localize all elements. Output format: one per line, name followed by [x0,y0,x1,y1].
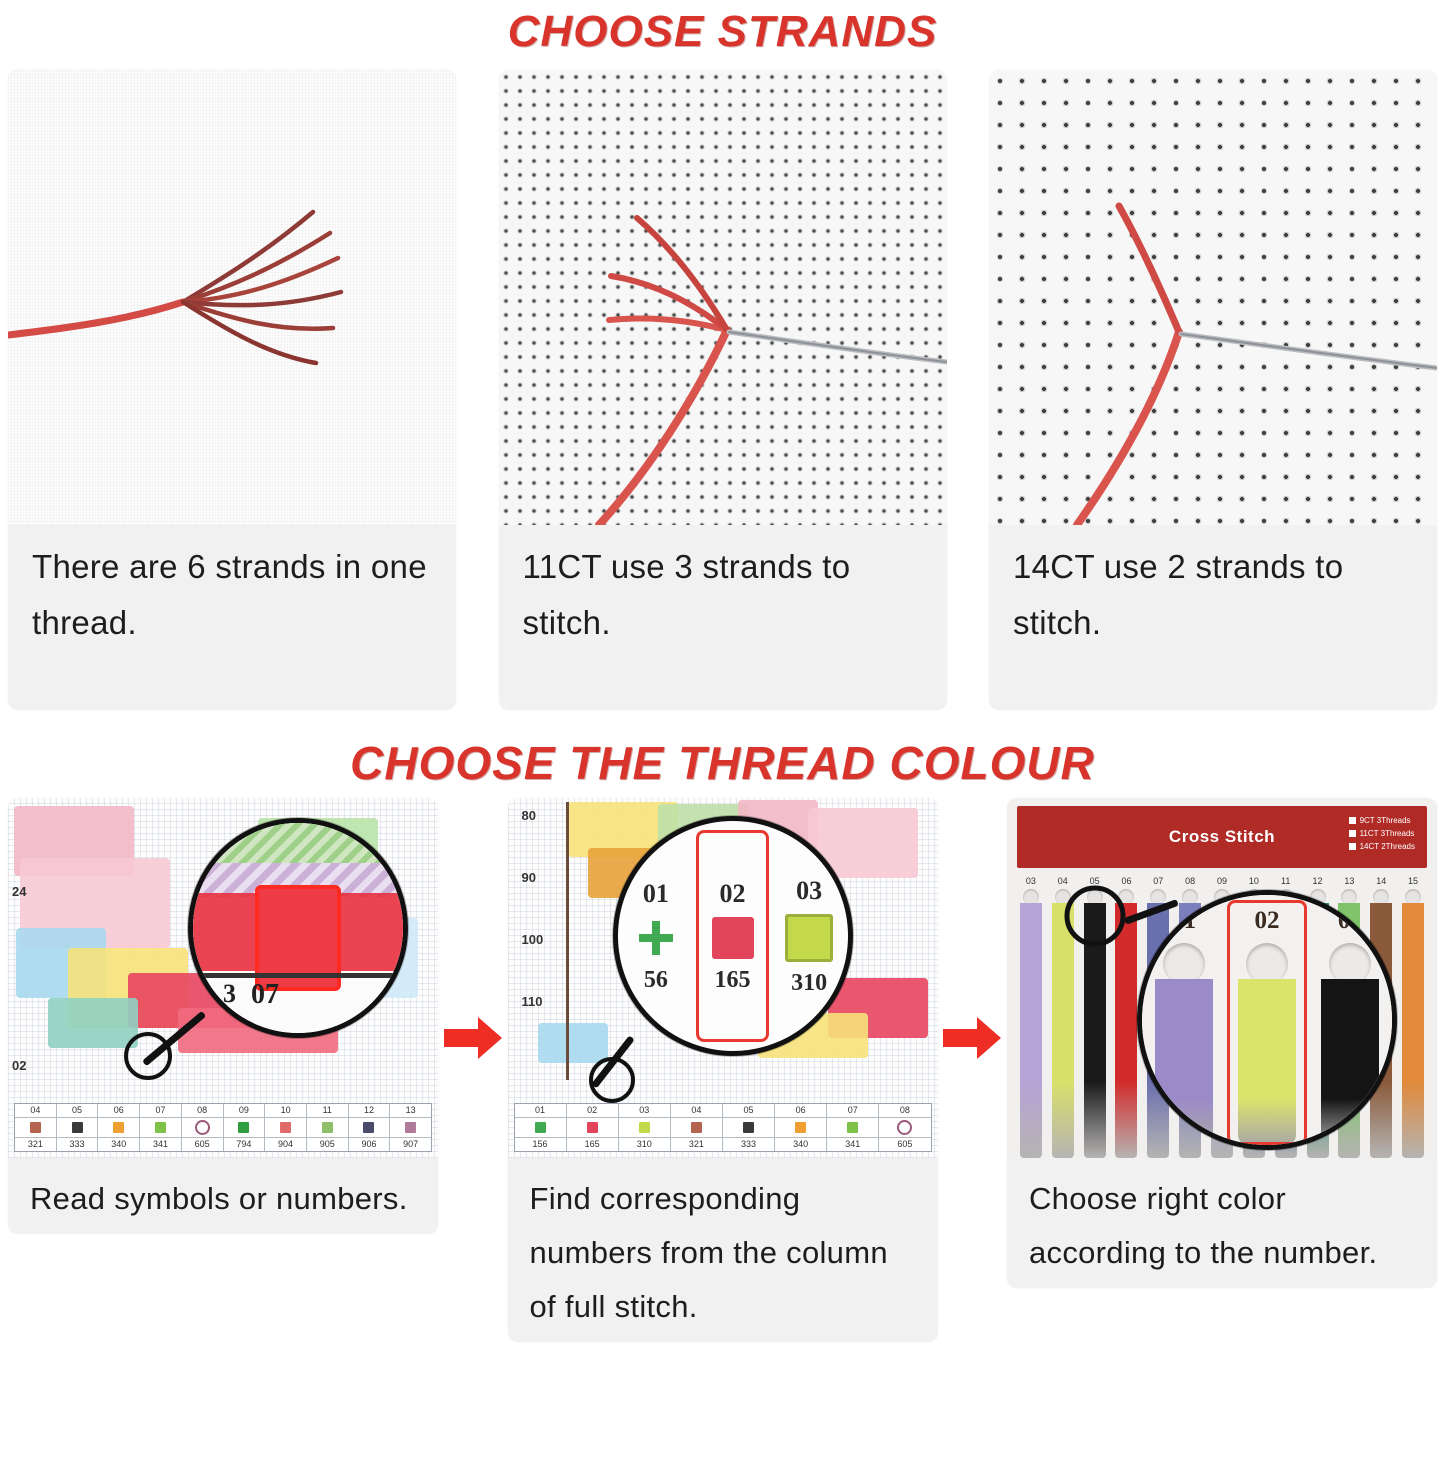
row-label: 110 [522,994,543,1009]
skein-number: 14 [1376,876,1386,886]
card-11ct: 11CT use 3 strands to stitch. [499,70,947,710]
needle-with-three-strands-icon [499,70,947,525]
legend-symbol-icon [363,1122,374,1133]
key-column-code: 56 [644,967,668,994]
photo-11ct-aida [499,70,947,525]
printed-pattern-chart: 24 02 07 3 [8,798,438,1158]
checkbox-icon[interactable] [1349,830,1356,837]
photo-printed-pattern: 24 02 07 3 [8,798,438,1158]
needle-with-two-strands-icon [989,70,1437,525]
legend-symbol-cell [265,1118,307,1138]
legend-number-cell: 07 [827,1104,879,1118]
legend-number-cell: 08 [182,1104,224,1118]
magnifier-target-circle [1055,880,1145,950]
legend-code-cell: 605 [879,1138,930,1151]
thread-pack: Cross Stitch 9CT 3Threads11CT 3Threads14… [1007,798,1437,1158]
legend-number-cell: 05 [57,1104,99,1118]
legend-code-cell: 907 [390,1138,431,1151]
magnifier-target-circle [118,1020,208,1080]
legend-symbol-cell [619,1118,671,1138]
skein-floss [1321,979,1379,1145]
legend-number-cell: 01 [515,1104,567,1118]
legend-header-row: 0102030405060708 [515,1104,931,1118]
colour-card-row: 24 02 07 3 [0,798,1445,1398]
skein-number: 11 [1281,876,1290,886]
magnifier-lens: 01560216503310 [613,816,853,1056]
pack-options: 9CT 3Threads11CT 3Threads14CT 2Threads [1349,816,1415,855]
legend-code-cell: 321 [671,1138,723,1151]
legend-symbol-cell [307,1118,349,1138]
row-label: 24 [12,884,26,899]
magnified-skein-column: 02 [1225,895,1308,1145]
pattern-chart: 8090100110 01560216503310 01020304050607… [508,798,938,1158]
legend-symbol-cell [140,1118,182,1138]
legend-symbol-cell [15,1118,57,1138]
legend-symbol-icon [587,1122,598,1133]
legend-number-cell: 08 [879,1104,930,1118]
magnified-key-columns: 01560216503310 [618,821,848,1051]
skein-column-number: 03 [1338,907,1363,935]
legend-header-row: 04050607080910111213 [15,1104,431,1118]
legend-code-cell: 906 [349,1138,391,1151]
skein-floss [1238,979,1296,1145]
legend-number-cell: 11 [307,1104,349,1118]
magnified-number: 07 [251,979,279,1011]
skein-number: 03 [1026,876,1036,886]
legend-number-cell: 13 [390,1104,431,1118]
legend-symbol-icon [535,1122,546,1133]
chart-axis-line [566,802,569,1080]
key-column-code: 310 [791,970,827,997]
skein-number: 10 [1249,876,1259,886]
skein-column-number: 01 [1171,907,1196,935]
legend-code-cell: 341 [827,1138,879,1151]
legend-code-row: 156165310321333340341605 [515,1138,931,1151]
legend-symbol-icon [113,1122,124,1133]
magnified-skein-columns: 010203 [1142,895,1392,1145]
legend-symbol-row [15,1118,431,1138]
pack-option: 14CT 2Threads [1349,842,1415,851]
caption-six-strands: There are 6 strands in one thread. [8,525,456,661]
legend-symbol-icon [639,1122,650,1133]
magnified-skein-column: 03 [1309,895,1392,1145]
row-label: 100 [522,932,544,947]
skein: 03 [1015,874,1047,1158]
key-column-symbol [635,917,677,959]
legend-symbol-icon [322,1122,333,1133]
skein: 15 [1397,874,1429,1158]
legend-symbol-cell [98,1118,140,1138]
magnifier-target-circle [578,1050,668,1110]
row-label: 80 [522,808,536,823]
legend-symbol-icon [405,1122,416,1133]
legend-code-cell: 156 [515,1138,567,1151]
legend-symbol-icon [30,1122,41,1133]
magnifier-lens: 07 3 [188,818,408,1038]
checkbox-icon[interactable] [1349,817,1356,824]
skein-number: 08 [1185,876,1195,886]
legend-symbol-icon [155,1122,166,1133]
legend-symbol-cell [775,1118,827,1138]
legend-symbol-cell [182,1118,224,1138]
legend-symbol-cell [723,1118,775,1138]
legend-code-cell: 333 [57,1138,99,1151]
section-title-choose-thread-colour: CHOOSE THE THREAD COLOUR [0,730,1445,792]
key-column-number: 01 [643,879,669,909]
skein-floss [1020,903,1042,1158]
key-column-code: 165 [715,967,751,994]
magnified-skein-column: 01 [1142,895,1225,1145]
pack-option-label: 9CT 3Threads [1360,816,1411,825]
legend-symbol-icon [195,1120,210,1135]
photo-six-strands [8,70,456,525]
key-column-symbol [712,917,754,959]
photo-thread-pack: Cross Stitch 9CT 3Threads11CT 3Threads14… [1007,798,1437,1158]
skein-number: 13 [1344,876,1354,886]
row-label: 90 [522,870,536,885]
caption-read-symbols: Read symbols or numbers. [8,1158,438,1234]
legend-symbol-icon [847,1122,858,1133]
legend-number-cell: 04 [671,1104,723,1118]
caption-find-numbers: Find corresponding numbers from the colu… [508,1158,938,1342]
arrow-right-icon [941,1015,1003,1061]
legend-number-cell: 06 [98,1104,140,1118]
skein-number: 07 [1153,876,1163,886]
six-strands-icon [8,70,456,525]
photo-14ct-aida [989,70,1437,525]
section-title-choose-strands: CHOOSE STRANDS [0,0,1445,60]
pack-option-label: 11CT 3Threads [1360,829,1415,838]
legend-symbol-cell [567,1118,619,1138]
legend-code-cell: 333 [723,1138,775,1151]
arrow-right-icon [442,1015,504,1061]
legend-symbol-cell [827,1118,879,1138]
legend-table-symbols: 04050607080910111213 3213333403416057949… [14,1103,432,1152]
legend-code-cell: 321 [15,1138,57,1151]
magnified-key-column: 03310 [771,821,848,1051]
legend-number-cell: 02 [567,1104,619,1118]
legend-code-cell: 904 [265,1138,307,1151]
skein-number: 15 [1408,876,1418,886]
legend-symbol-icon [238,1122,249,1133]
skein-number: 12 [1313,876,1323,886]
chart-row-labels: 8090100110 [512,808,552,1088]
legend-code-cell: 165 [567,1138,619,1151]
card-find-numbers: 8090100110 01560216503310 01020304050607… [508,798,938,1342]
legend-symbol-cell [390,1118,431,1138]
card-six-strands: There are 6 strands in one thread. [8,70,456,710]
pack-option-label: 14CT 2Threads [1360,842,1415,851]
caption-11ct: 11CT use 3 strands to stitch. [499,525,947,661]
legend-number-cell: 05 [723,1104,775,1118]
legend-symbol-cell [671,1118,723,1138]
legend-symbol-icon [72,1122,83,1133]
row-label: 02 [12,1058,26,1073]
card-choose-color: Cross Stitch 9CT 3Threads11CT 3Threads14… [1007,798,1437,1288]
legend-code-cell: 340 [775,1138,827,1151]
legend-symbol-cell [515,1118,567,1138]
magnifier-lens: 010203 [1137,890,1397,1150]
caption-14ct: 14CT use 2 strands to stitch. [989,525,1437,661]
checkbox-icon[interactable] [1349,843,1356,850]
legend-symbol-cell [349,1118,391,1138]
legend-code-cell: 605 [182,1138,224,1151]
skein-floss [1155,979,1213,1145]
chart-row-labels: 24 02 [12,808,52,1088]
pack-header: Cross Stitch 9CT 3Threads11CT 3Threads14… [1017,806,1427,868]
strands-card-row: There are 6 strands in one thread. 11CT … [0,70,1445,730]
skein-floss [1402,903,1424,1158]
legend-number-cell: 06 [775,1104,827,1118]
skein-number: 09 [1217,876,1227,886]
card-14ct: 14CT use 2 strands to stitch. [989,70,1437,710]
legend-symbol-row [515,1118,931,1138]
legend-symbol-cell [57,1118,99,1138]
pack-option: 11CT 3Threads [1349,829,1415,838]
photo-pattern-chart: 8090100110 01560216503310 01020304050607… [508,798,938,1158]
legend-symbol-icon [897,1120,912,1135]
legend-code-cell: 340 [98,1138,140,1151]
legend-code-row: 321333340341605794904905906907 [15,1138,431,1151]
pack-option: 9CT 3Threads [1349,816,1415,825]
magnified-key-column: 02165 [694,821,771,1051]
legend-symbol-icon [280,1122,291,1133]
legend-symbol-cell [224,1118,266,1138]
legend-code-cell: 794 [224,1138,266,1151]
legend-code-cell: 905 [307,1138,349,1151]
card-read-symbols: 24 02 07 3 [8,798,438,1234]
legend-number-cell: 09 [224,1104,266,1118]
legend-code-cell: 310 [619,1138,671,1151]
key-column-number: 03 [796,876,822,906]
legend-table-full-stitch: 0102030405060708 15616531032133334034160… [514,1103,932,1152]
pack-title: Cross Stitch [1169,827,1275,847]
legend-number-cell: 10 [265,1104,307,1118]
legend-code-cell: 341 [140,1138,182,1151]
key-column-number: 02 [720,879,746,909]
legend-number-cell: 12 [349,1104,391,1118]
legend-symbol-icon [691,1122,702,1133]
key-column-symbol [785,914,833,962]
legend-symbol-icon [743,1122,754,1133]
legend-number-cell: 04 [15,1104,57,1118]
skein-column-number: 02 [1254,907,1279,935]
caption-choose-color: Choose right color according to the numb… [1007,1158,1437,1288]
legend-symbol-icon [795,1122,806,1133]
legend-number-cell: 07 [140,1104,182,1118]
legend-symbol-cell [879,1118,930,1138]
legend-number-cell: 03 [619,1104,671,1118]
magnified-key-column: 0156 [618,821,695,1051]
